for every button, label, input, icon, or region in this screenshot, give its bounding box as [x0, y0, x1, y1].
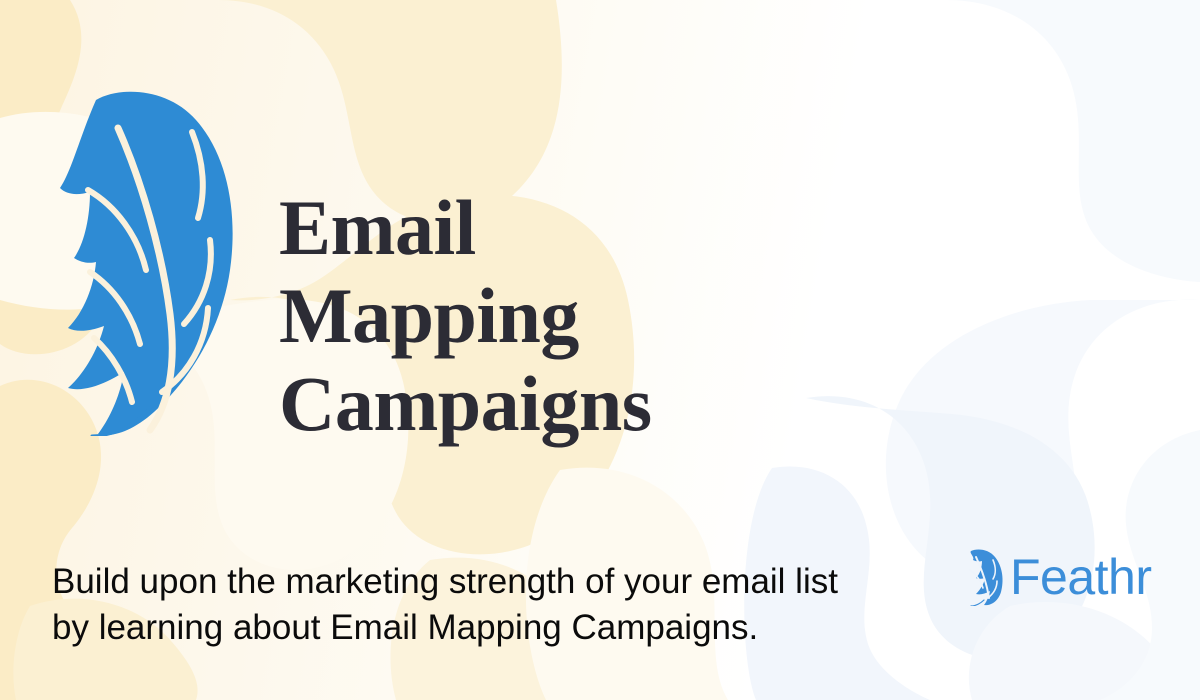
title-card: Email Mapping Campaigns Build upon the m…: [0, 0, 1200, 700]
blob-blue-faint-upper-right: [946, 0, 1200, 282]
brand-wordmark: Feathr: [1010, 552, 1152, 602]
feather-icon: [962, 548, 1004, 606]
blob-blue-faint-mid-right: [886, 300, 1200, 584]
feather-icon: [58, 86, 244, 436]
blob-blue-faint-bottom-right: [969, 602, 1188, 700]
brand-logo: Feathr: [962, 548, 1152, 606]
page-title: Email Mapping Campaigns: [279, 184, 839, 448]
page-subtitle: Build upon the marketing strength of you…: [52, 559, 862, 651]
